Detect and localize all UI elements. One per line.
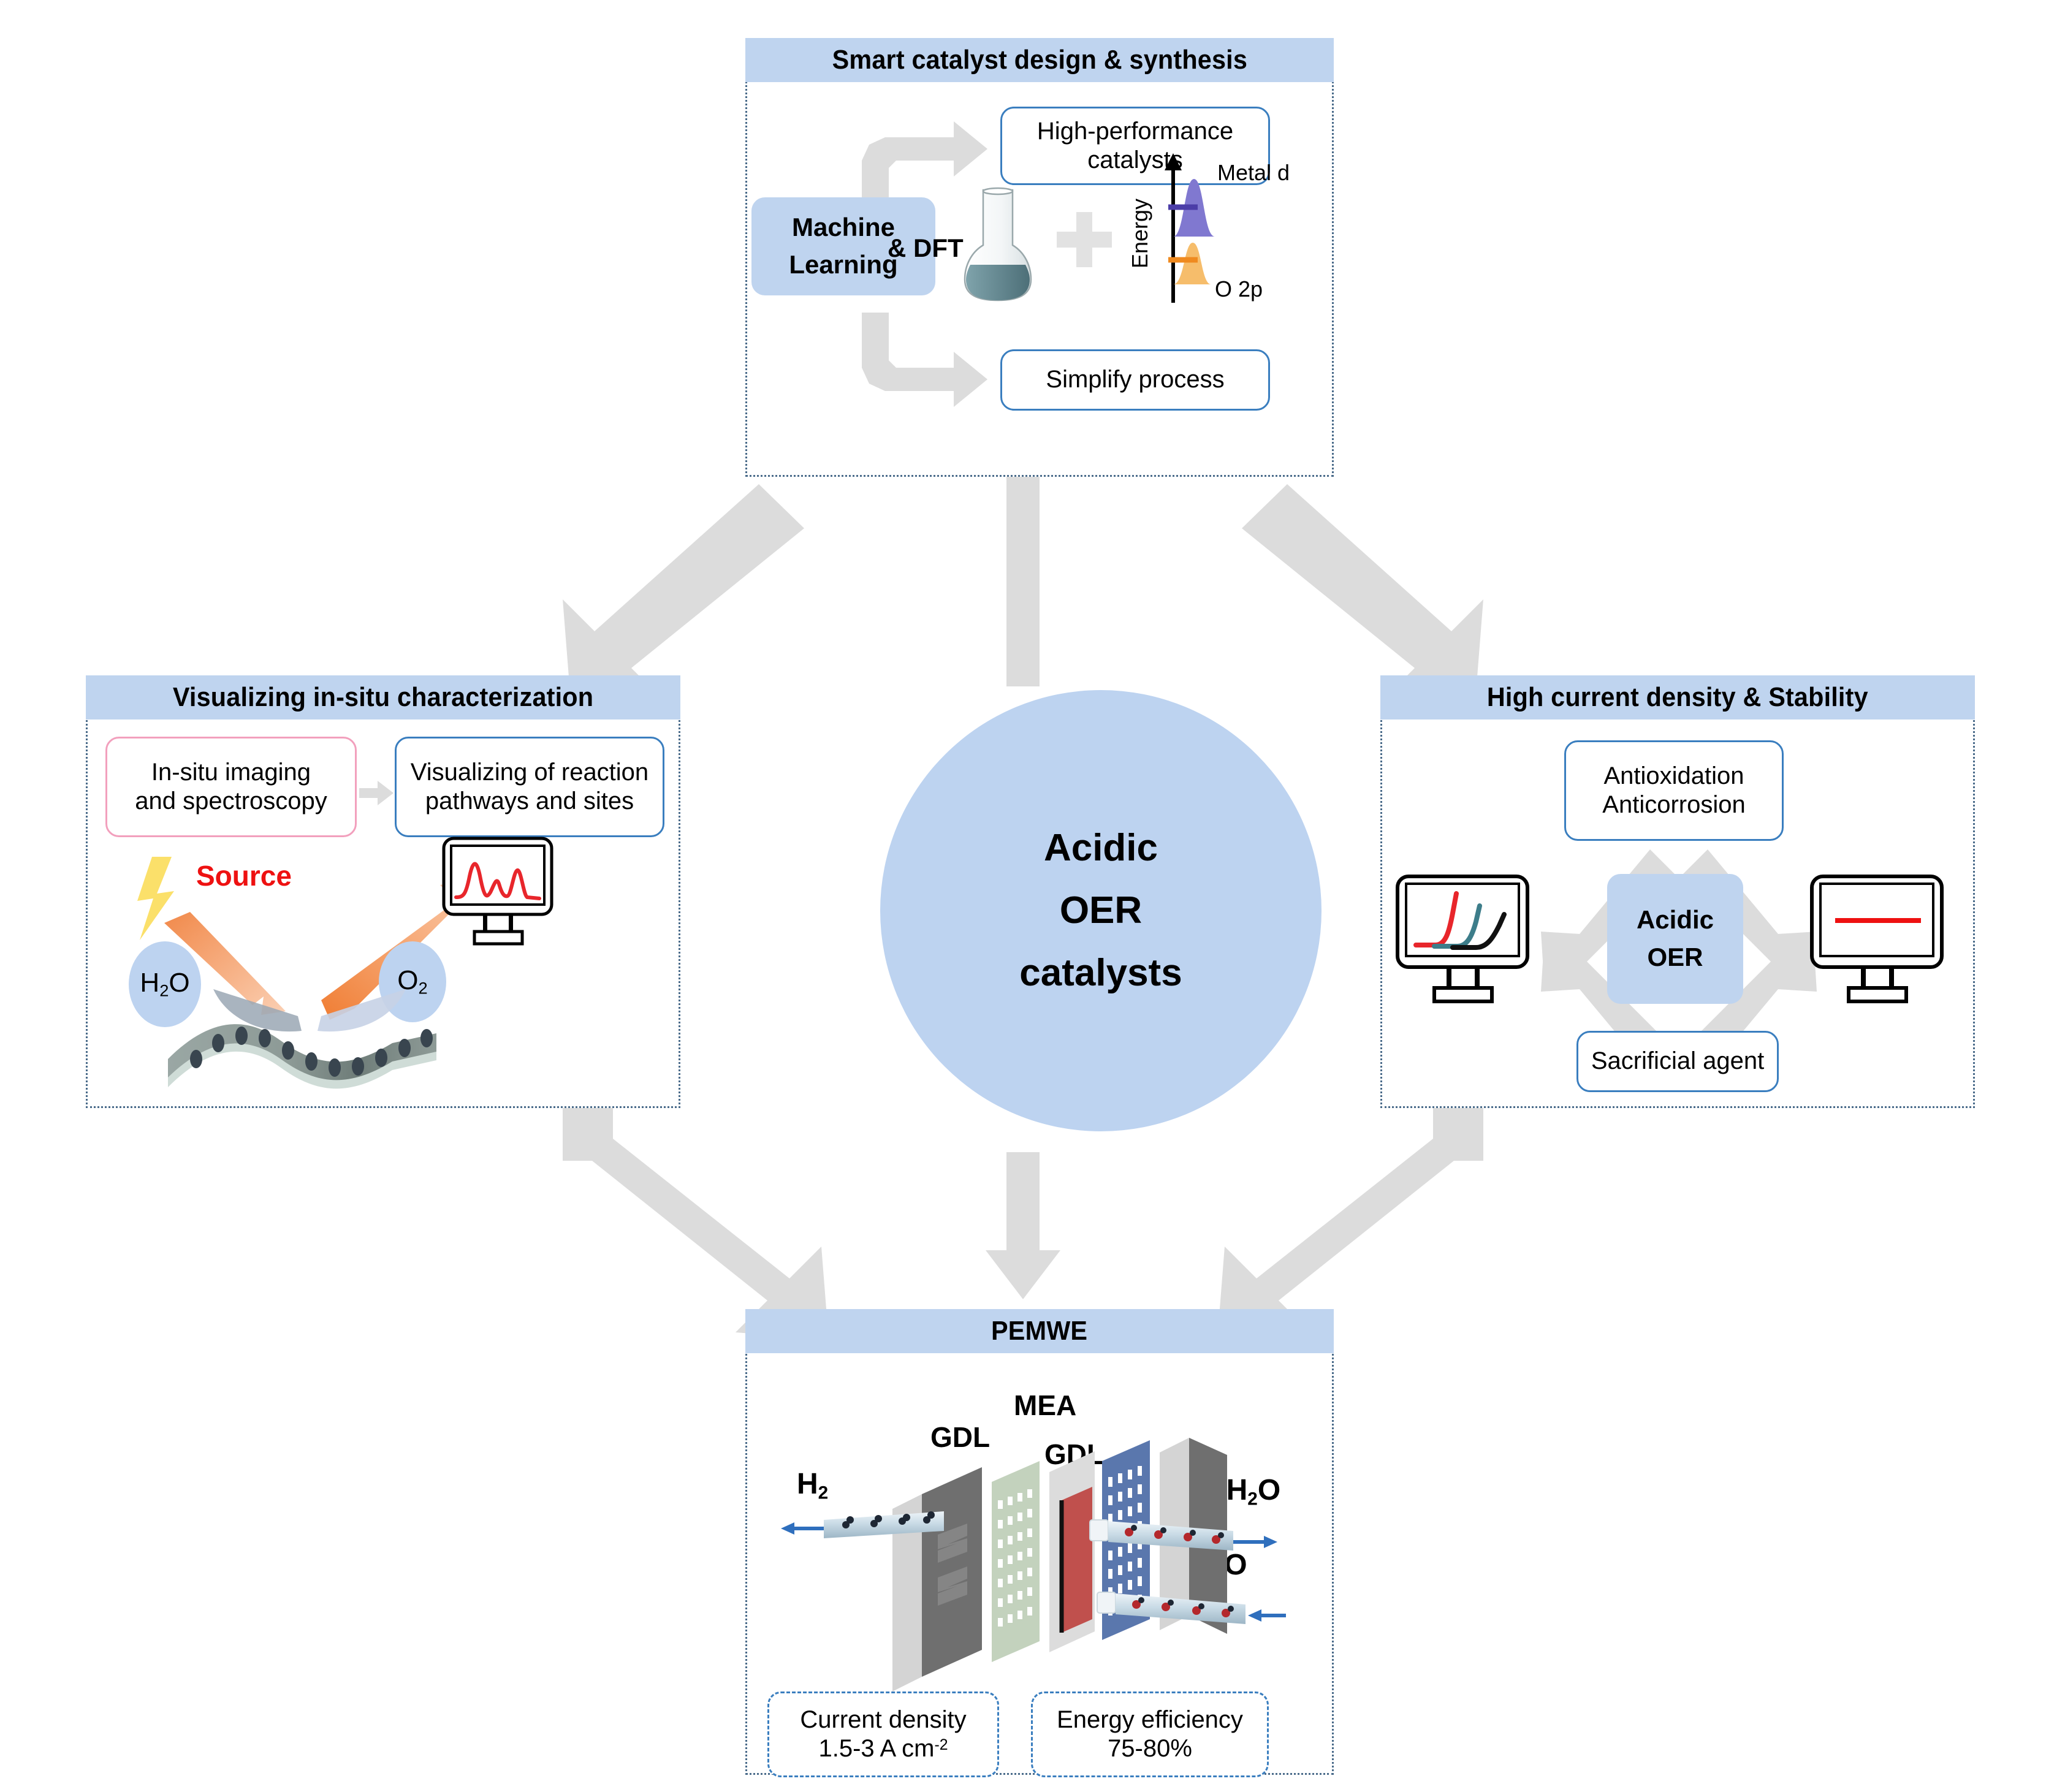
panel-pemwe: PEMWE MEA GDL GDL H2 O2 + H2O H2O xyxy=(745,1309,1334,1775)
box-simplify-process: Simplify process xyxy=(1000,349,1270,411)
arrow-left-to-bottom xyxy=(563,1107,829,1340)
panel-bottom-title: PEMWE xyxy=(991,1316,1087,1346)
panel-right-header: High current density & Stability xyxy=(1380,675,1975,719)
metric-1-value: 1.5-3 A cm-2 xyxy=(800,1734,966,1763)
pathways-line-1: Visualizing of reaction xyxy=(411,758,648,787)
flask-icon xyxy=(954,186,1046,303)
plus-icon xyxy=(1057,212,1112,267)
panel-top-header: Smart catalyst design & synthesis xyxy=(745,38,1334,82)
panel-right-title: High current density & Stability xyxy=(1487,682,1868,713)
box-visualizing-reaction-pathways: Visualizing of reaction pathways and sit… xyxy=(395,737,664,837)
metric-2-title: Energy efficiency xyxy=(1057,1706,1243,1734)
metric-1-title: Current density xyxy=(800,1706,966,1734)
stability-line-monitor-icon xyxy=(1808,874,1949,1003)
metric-1-value-exp: -2 xyxy=(934,1737,948,1753)
imaging-line-2: and spectroscopy xyxy=(135,787,327,816)
hp-line-1: High-performance xyxy=(1037,117,1233,146)
dos-upper-band-label: Metal d xyxy=(1217,160,1290,185)
panel-smart-catalyst-design: Smart catalyst design & synthesis High-p… xyxy=(745,38,1334,477)
antiox-line-2: Anticorrosion xyxy=(1602,791,1745,819)
panel-bottom-body: MEA GDL GDL H2 O2 + H2O H2O xyxy=(745,1353,1334,1775)
metric-1-value-base: 1.5-3 A cm xyxy=(818,1735,934,1762)
panel-bottom-header: PEMWE xyxy=(745,1309,1334,1353)
antiox-line-1: Antioxidation xyxy=(1602,762,1745,791)
panel-left-header: Visualizing in-situ characterization xyxy=(86,675,680,719)
panel-right-body: Antioxidation Anticorrosion Acidic OER xyxy=(1380,719,1975,1108)
arrow-center-to-bottom xyxy=(986,1152,1060,1299)
arrow-top-to-center xyxy=(1006,477,1040,686)
panel-top-title: Smart catalyst design & synthesis xyxy=(832,45,1247,75)
pathways-line-2: pathways and sites xyxy=(411,787,648,816)
panel-high-current-density-stability: High current density & Stability Antioxi… xyxy=(1380,675,1975,1108)
imaging-line-1: In-situ imaging xyxy=(135,758,327,787)
acidic-oer-line-1: Acidic xyxy=(1637,902,1714,939)
box-antioxidation-anticorrosion: Antioxidation Anticorrosion xyxy=(1564,740,1784,841)
panel-left-title: Visualizing in-situ characterization xyxy=(173,682,593,713)
panel-left-body: In-situ imaging and spectroscopy Visuali… xyxy=(86,719,680,1108)
lsv-curves-monitor-icon xyxy=(1394,874,1535,1003)
label-source: Source xyxy=(196,860,292,892)
center-node-acidic-oer-catalysts: Acidic OER catalysts xyxy=(880,690,1322,1131)
panel-visualizing-in-situ-characterization: Visualizing in-situ characterization In-… xyxy=(86,675,680,1108)
label-mea: MEA xyxy=(1014,1390,1076,1421)
label-h2-outlet: H2 xyxy=(797,1468,828,1503)
box-metric-current-density: Current density 1.5-3 A cm-2 xyxy=(767,1691,999,1777)
acidic-oer-line-2: OER xyxy=(1637,939,1714,976)
spectrum-monitor-icon xyxy=(440,836,557,946)
o2-h2o-outlet-tube xyxy=(1086,1511,1295,1566)
ml-line-1: Machine xyxy=(789,209,897,246)
arrow-top-to-left xyxy=(563,484,804,700)
arrow-right-to-bottom xyxy=(1217,1107,1483,1340)
h2o-inlet-tube xyxy=(1093,1581,1302,1636)
dos-axis-label: Energy xyxy=(1127,199,1152,268)
center-line-1: Acidic xyxy=(1019,817,1182,879)
catalyst-surface-illustration xyxy=(164,1014,452,1099)
h2-outlet-tube xyxy=(777,1504,973,1553)
center-line-2: OER xyxy=(1019,879,1182,942)
simplify-label: Simplify process xyxy=(1046,365,1224,394)
elbow-arrow-down-icon xyxy=(856,313,1015,417)
box-sacrificial-agent: Sacrificial agent xyxy=(1576,1031,1779,1092)
panel-top-body: High-performance catalysts Machine Learn… xyxy=(745,82,1334,477)
chip-acidic-oer: Acidic OER xyxy=(1607,874,1743,1004)
ml-line-2: Learning xyxy=(789,246,897,284)
arrow-top-to-right xyxy=(1242,484,1483,700)
center-line-3: catalysts xyxy=(1019,942,1182,1004)
dos-energy-diagram: Metal d O 2p Energy xyxy=(1125,151,1315,310)
label-and-dft: & DFT xyxy=(888,234,964,262)
label-h2o-reactant: H2O xyxy=(140,968,189,1001)
box-in-situ-imaging-spectroscopy: In-situ imaging and spectroscopy xyxy=(105,737,357,837)
box-metric-energy-efficiency: Energy efficiency 75-80% xyxy=(1031,1691,1269,1777)
metric-2-value: 75-80% xyxy=(1057,1734,1243,1763)
dos-lower-band-label: O 2p xyxy=(1215,276,1263,302)
small-right-arrow-icon xyxy=(359,781,394,805)
sacrificial-label: Sacrificial agent xyxy=(1591,1047,1764,1076)
